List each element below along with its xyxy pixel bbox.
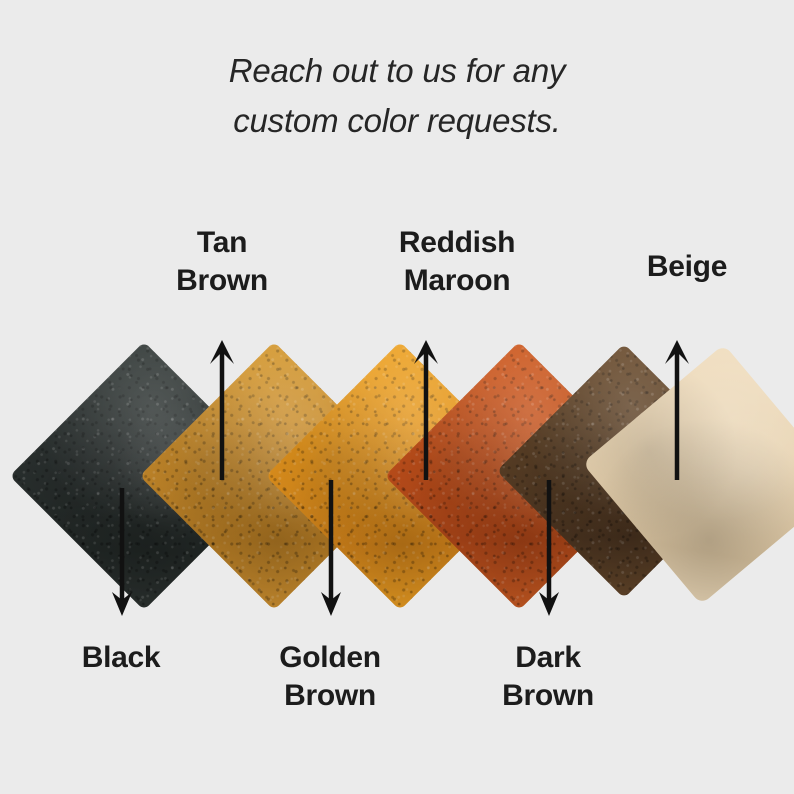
arrow-down-dark-brown: [535, 480, 563, 618]
label-golden-brown: Golden Brown: [249, 639, 411, 715]
arrow-up-tan-brown: [208, 338, 236, 480]
color-swatch-infographic: Reach out to us for any custom color req…: [0, 0, 794, 794]
label-dark-brown: Dark Brown: [471, 639, 625, 715]
arrow-up-beige: [663, 338, 691, 480]
arrow-down-black: [108, 488, 136, 618]
label-black: Black: [47, 639, 195, 677]
arrow-down-golden-brown: [317, 480, 345, 618]
label-tan-brown: Tan Brown: [142, 224, 302, 300]
arrow-up-reddish-maroon: [412, 338, 440, 480]
label-reddish-maroon: Reddish Maroon: [368, 224, 546, 300]
label-beige: Beige: [617, 248, 757, 286]
